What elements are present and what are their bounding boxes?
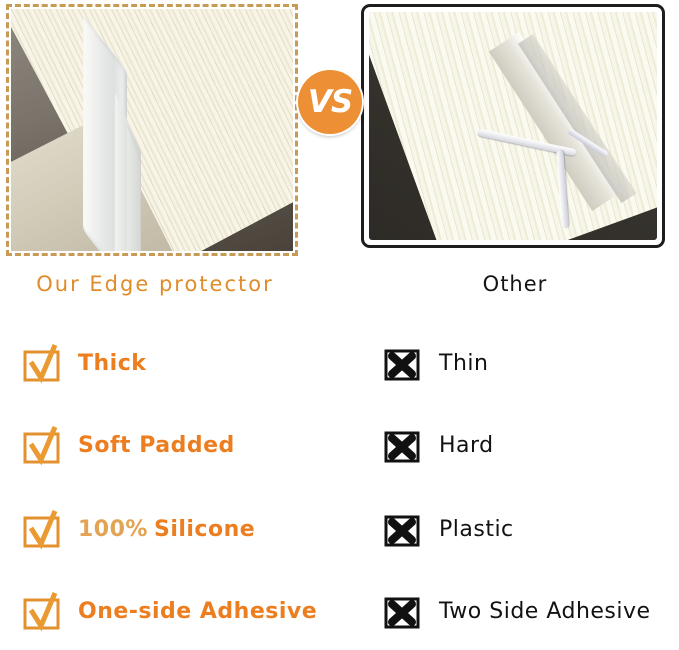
feature-label: Thick [78, 353, 146, 375]
feature-label-prefix: 100% [78, 517, 148, 542]
other-product-photo [369, 12, 657, 240]
checkbox-x-icon [383, 426, 423, 466]
our-product-photo [11, 9, 293, 251]
our-product-caption: Our Edge protector [0, 272, 310, 296]
feature-row-other: Two Side Adhesive [383, 574, 679, 650]
comparison-panels: VS [0, 0, 679, 262]
checkbox-checked-icon [22, 344, 62, 384]
feature-label: Plastic [439, 519, 514, 541]
feature-row-other: Plastic [383, 492, 679, 568]
feature-label: One-side Adhesive [78, 601, 317, 623]
checkbox-x-icon [383, 344, 423, 384]
feature-row-ours: One-side Adhesive [22, 574, 352, 650]
vs-badge: VS [298, 70, 362, 134]
checkbox-x-icon [383, 592, 423, 632]
our-product-panel [6, 4, 298, 256]
checkbox-checked-icon [22, 592, 62, 632]
feature-row-ours: Soft Padded [22, 408, 352, 484]
feature-label: Soft Padded [78, 435, 235, 457]
vs-badge-label: VS [308, 87, 352, 118]
feature-row-other: Hard [383, 408, 679, 484]
other-product-panel [361, 4, 665, 248]
feature-row-other: Thin [383, 326, 679, 402]
feature-comparison-list: Thick Soft Padded 100%Silicone One-side … [0, 322, 679, 635]
checkbox-checked-icon [22, 510, 62, 550]
feature-label-group: 100%Silicone [78, 519, 255, 541]
feature-label: Hard [439, 435, 494, 457]
feature-row-ours: Thick [22, 326, 352, 402]
feature-label: Two Side Adhesive [439, 601, 651, 623]
other-product-caption: Other [380, 272, 650, 296]
feature-label: Thin [439, 353, 488, 375]
feature-label: Silicone [154, 517, 255, 542]
checkbox-x-icon [383, 510, 423, 550]
feature-row-ours: 100%Silicone [22, 492, 352, 568]
checkbox-checked-icon [22, 426, 62, 466]
